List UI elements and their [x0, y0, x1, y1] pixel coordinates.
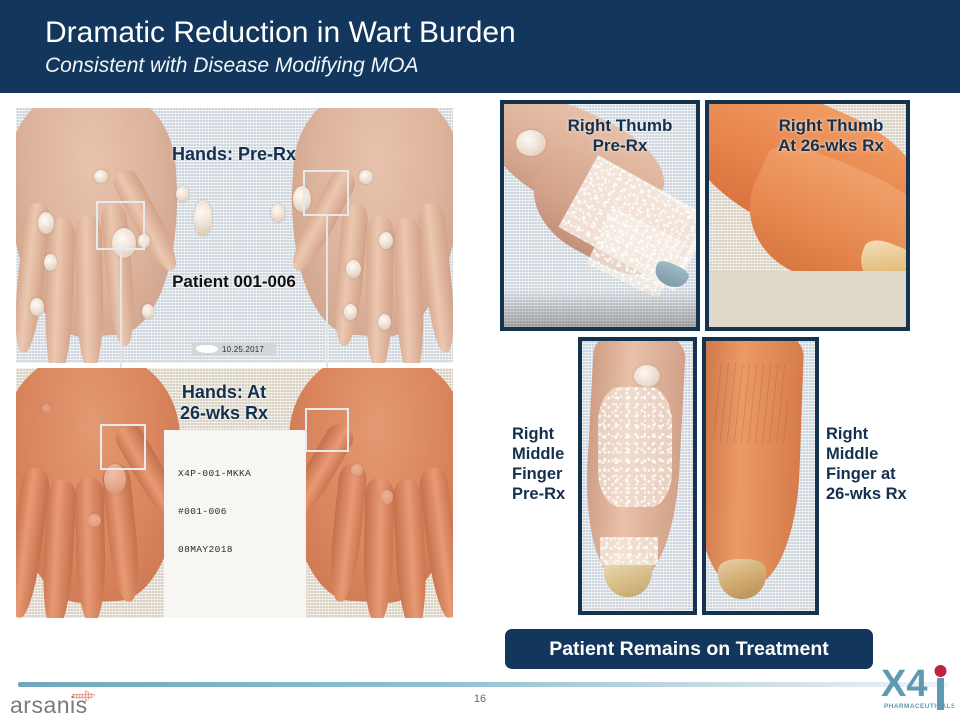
panel-shadow	[504, 289, 696, 327]
right-thumb-26wks-label: Right Thumb At 26-wks Rx	[751, 116, 910, 156]
x4-logo-mark: X4 PHARMACEUTICALS	[880, 662, 954, 714]
finger-shape	[393, 218, 426, 363]
photo-hands-pre-rx: Hands: Pre-Rx Patient 001-006 10.25.2017	[16, 108, 453, 363]
date-strip-blob	[196, 345, 218, 353]
residual-lesion	[88, 514, 101, 527]
wart	[344, 304, 357, 320]
right-middle-finger-pre-rx-label: Right Middle Finger Pre-Rx	[512, 424, 578, 505]
right-middle-finger-26wks-label: Right Middle Finger at 26-wks Rx	[826, 424, 950, 505]
callout-box-left-post	[100, 424, 146, 470]
paper-line-subject: #001-006	[178, 506, 227, 517]
panel-right-middle-finger-26wks	[702, 337, 819, 615]
page-number: 16	[0, 693, 960, 705]
callout-box-right-pre	[303, 170, 349, 216]
wart	[516, 130, 546, 156]
slide-header: Dramatic Reduction in Wart Burden Consis…	[0, 0, 960, 93]
wart	[271, 204, 285, 222]
patient-id-label: Patient 001-006	[124, 272, 344, 292]
wart	[359, 170, 373, 184]
study-paper-card: X4P-001-MKKA #001-006 08MAY2018	[164, 430, 306, 618]
hyperkeratosis-texture	[598, 387, 672, 507]
panel-right-thumb-26wks: Right Thumb At 26-wks Rx	[705, 100, 910, 331]
finger-shape	[43, 218, 76, 363]
x4-pharmaceuticals-logo: X4 PHARMACEUTICALS	[880, 662, 954, 714]
panel-right-thumb-pre-rx: Right Thumb Pre-Rx	[500, 100, 700, 331]
finger-shape	[75, 478, 107, 618]
wart	[176, 186, 189, 202]
skin-creases	[714, 363, 788, 443]
wart	[94, 170, 108, 183]
date-stamp-text: 10.25.2017	[222, 345, 264, 354]
hyperkeratosis-texture	[600, 537, 658, 565]
wart	[44, 254, 57, 271]
wart	[38, 212, 54, 234]
paper-line-date: 08MAY2018	[178, 544, 233, 555]
wart	[379, 232, 393, 249]
callout-box-right-post	[305, 408, 349, 452]
patient-status-text: Patient Remains on Treatment	[549, 638, 829, 661]
wart	[378, 314, 391, 330]
hands-26wks-label: Hands: At 26-wks Rx	[124, 382, 324, 424]
slide: Dramatic Reduction in Wart Burden Consis…	[0, 0, 960, 720]
hands-pre-rx-label: Hands: Pre-Rx	[124, 144, 344, 165]
panel-table-surface	[709, 271, 906, 327]
wart	[346, 260, 361, 278]
page-title: Dramatic Reduction in Wart Burden	[45, 16, 516, 50]
date-stamp-strip: 10.25.2017	[192, 342, 276, 356]
right-thumb-pre-rx-label: Right Thumb Pre-Rx	[544, 116, 696, 156]
wart	[194, 200, 212, 236]
patient-status-banner: Patient Remains on Treatment	[505, 629, 873, 669]
photo-hands-26wks: X4P-001-MKKA #001-006 08MAY2018 Hands: A…	[16, 368, 453, 618]
wart	[30, 298, 44, 316]
svg-text:PHARMACEUTICALS: PHARMACEUTICALS	[884, 703, 954, 710]
footer-divider	[18, 682, 948, 687]
paper-line-protocol: X4P-001-MKKA	[178, 468, 251, 479]
wart	[142, 304, 154, 319]
callout-box-left-pre	[96, 201, 145, 250]
wart	[634, 365, 660, 387]
residual-lesion	[351, 464, 363, 476]
page-subtitle: Consistent with Disease Modifying MOA	[45, 54, 418, 78]
residual-lesion	[381, 490, 393, 504]
panel-right-middle-finger-pre-rx	[578, 337, 697, 615]
residual-lesion	[42, 404, 51, 413]
svg-text:X4: X4	[881, 663, 927, 705]
